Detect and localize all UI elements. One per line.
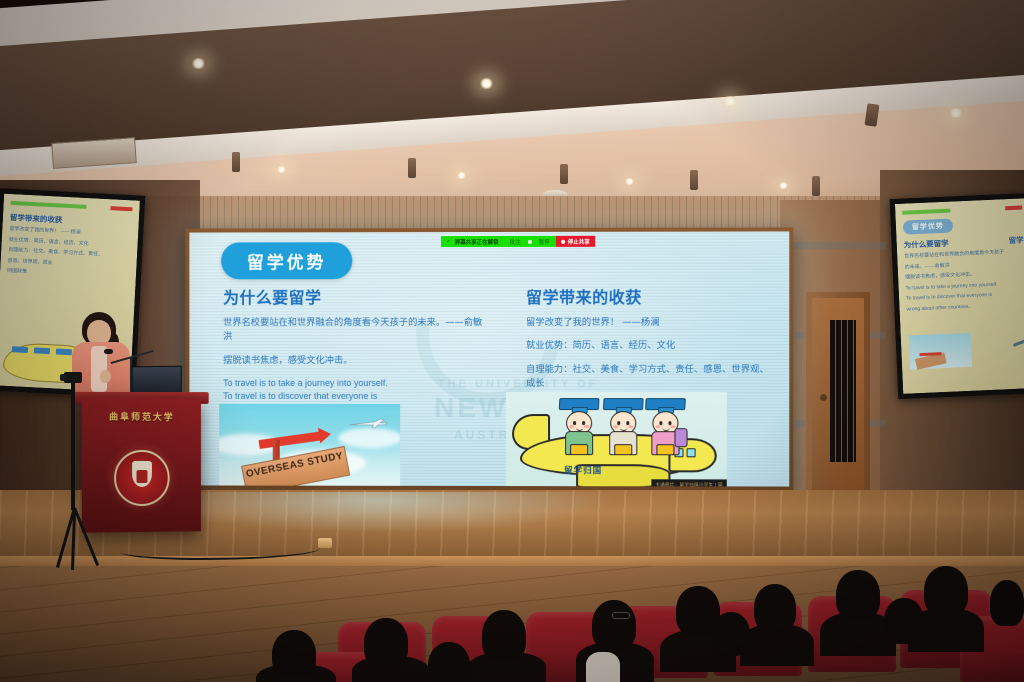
suitcase-icon <box>614 444 632 455</box>
eye <box>626 421 629 425</box>
side-left-graduate-cap <box>34 347 50 354</box>
auditorium-scene: 留学带来的收获 留学改变了我的世界！ ——杨澜 就业优势：简历、语言、经历、文化… <box>0 0 1024 682</box>
slide-content: 留学优势 为什么要留学 世界名校要站在和世界融合的角度看今天孩子的未来。——俞敏… <box>189 231 789 486</box>
wall-speaker <box>560 164 568 184</box>
audience-head <box>364 618 408 668</box>
cheek <box>655 425 660 428</box>
ceiling-downlight <box>948 108 964 118</box>
eye <box>659 421 662 425</box>
stop-share-label: 停止共享 <box>568 237 590 245</box>
sign-arrow <box>259 432 321 449</box>
graduation-cap-icon <box>603 398 644 410</box>
side-screen-right-content: 留学优势 为什么要留学 留学 世界名校要站在和世界融合的角度看今天孩子 的未来。… <box>895 198 1024 394</box>
suitcase-icon <box>570 444 588 455</box>
eye <box>573 421 576 425</box>
left-column-heading: 为什么要留学 <box>223 284 487 308</box>
ceiling-downlight <box>276 166 287 173</box>
cheek <box>670 425 675 428</box>
graduation-cap-icon <box>559 398 600 410</box>
ceiling-downlight <box>624 178 635 185</box>
side-right-rec-green <box>902 209 950 215</box>
share-check-icon: ✓ <box>446 239 451 245</box>
plane-body-label: 留学归国 <box>564 464 602 476</box>
stop-icon <box>561 239 565 243</box>
share-status-label: 屏幕共享正在解锁 <box>455 237 499 245</box>
returning-graduates-illustration: 留学归国 卡通图片 · 留学归国小学生 | 网 <box>506 392 727 487</box>
cheek <box>584 425 589 428</box>
right-column-paragraph: 留学改变了我的世界！ ——杨澜 <box>526 316 772 331</box>
graduate-figure <box>558 398 598 454</box>
wall-speaker <box>690 170 698 190</box>
side-right-heading-2: 留学 <box>1008 234 1023 246</box>
audience-head <box>482 610 526 662</box>
ceiling-downlight <box>722 96 738 106</box>
wall-speaker <box>408 158 416 178</box>
audience-head <box>712 612 750 656</box>
cheek <box>628 425 633 428</box>
illustration-credit: 卡通图片 · 留学归国小学生 | 网 <box>651 479 727 486</box>
eye <box>582 421 585 425</box>
stage-floor-object <box>318 538 332 548</box>
left-column-english-line: To travel is to take a journey into your… <box>223 377 487 390</box>
wall-speaker <box>812 176 820 196</box>
side-right-heading: 为什么要留学 <box>903 238 948 251</box>
left-column-paragraph: 摆脱读书焦虑，感受文化冲击。 <box>223 354 487 368</box>
ceiling-downlight <box>456 172 467 179</box>
camera-tripod <box>42 372 110 570</box>
graduation-cap-icon <box>645 398 686 410</box>
audience-head <box>924 566 968 616</box>
side-right-line: wrong about other countries. <box>906 301 1024 314</box>
side-left-rec-green <box>11 201 87 209</box>
left-column-paragraph: 世界名校要站在和世界融合的角度看今天孩子的未来。——俞敏洪 <box>223 316 487 345</box>
stage-screen-reflection <box>150 492 610 532</box>
tripod-center-column <box>71 382 75 510</box>
university-crest-emblem <box>114 450 170 506</box>
audience-head <box>428 642 470 682</box>
audience-head <box>884 598 924 644</box>
plane-window <box>687 448 696 457</box>
right-column-paragraph: 就业优势：简历、语言、经历、文化 <box>526 339 772 353</box>
stop-share-button[interactable]: 停止共享 <box>556 236 595 247</box>
audience-head <box>272 630 316 678</box>
wall-accent-band <box>790 242 886 249</box>
audience-eyeglasses <box>612 612 630 619</box>
signpost-graphic: OVERSEAS STUDY <box>237 434 356 487</box>
left-column-english-line: To travel is to discover that everyone i… <box>223 390 487 403</box>
share-status-banner: ✓ 屏幕共享正在解锁 <box>441 236 504 247</box>
pause-button[interactable]: 暂停 <box>539 237 550 245</box>
side-left-rec-red <box>110 206 132 211</box>
cheek <box>569 425 574 428</box>
door-handle[interactable] <box>820 394 827 401</box>
audience-head <box>990 580 1024 626</box>
annotate-button[interactable]: 批注 <box>510 237 521 245</box>
audience-light-shirt <box>586 652 620 682</box>
audience-seating <box>0 556 1024 682</box>
backpack-icon <box>674 428 687 447</box>
overseas-study-photo: OVERSEAS STUDY <box>219 404 400 487</box>
cheek <box>613 425 618 428</box>
audience-head <box>592 600 636 650</box>
airplane-icon <box>348 418 388 430</box>
door-glass-panel <box>830 320 856 462</box>
side-left-graduate-cap <box>12 346 28 353</box>
microphone-head <box>104 349 113 354</box>
wall-speaker <box>232 152 240 172</box>
right-column-paragraph: 自理能力：社交、美食、学习方式、责任、感恩、世界观、成长 <box>526 363 772 392</box>
ceiling-downlight <box>778 182 789 189</box>
side-screen-right: 留学优势 为什么要留学 留学 世界名校要站在和世界融合的角度看今天孩子 的未来。… <box>890 193 1024 399</box>
graduate-figure <box>644 398 684 454</box>
suitcase-icon <box>656 444 674 455</box>
pause-icon[interactable] <box>528 239 532 243</box>
side-right-rec-red <box>1005 205 1022 210</box>
main-led-screen[interactable]: THE UNIVERSITY OF NEWCASTLE AUSTRALIA ✓ … <box>189 231 789 486</box>
side-right-plane-icon <box>1013 340 1024 347</box>
ceiling-downlight <box>478 78 495 89</box>
share-toolbar-actions[interactable]: 批注 暂停 <box>504 236 556 247</box>
graduate-figure <box>602 398 642 454</box>
eye <box>617 421 620 425</box>
ceiling-downlight <box>190 58 207 69</box>
main-led-screen-frame: THE UNIVERSITY OF NEWCASTLE AUSTRALIA ✓ … <box>185 227 793 490</box>
screen-share-toolbar[interactable]: ✓ 屏幕共享正在解锁 批注 暂停 停止共享 <box>441 236 595 247</box>
eye <box>668 421 671 425</box>
side-right-title-pill: 留学优势 <box>903 219 954 235</box>
right-column-heading: 留学带来的收获 <box>526 284 772 308</box>
overseas-study-sign-label: OVERSEAS STUDY <box>241 446 350 487</box>
audience-head <box>836 570 880 620</box>
slide-title-pill: 留学优势 <box>221 242 352 279</box>
audience-head <box>754 584 796 632</box>
